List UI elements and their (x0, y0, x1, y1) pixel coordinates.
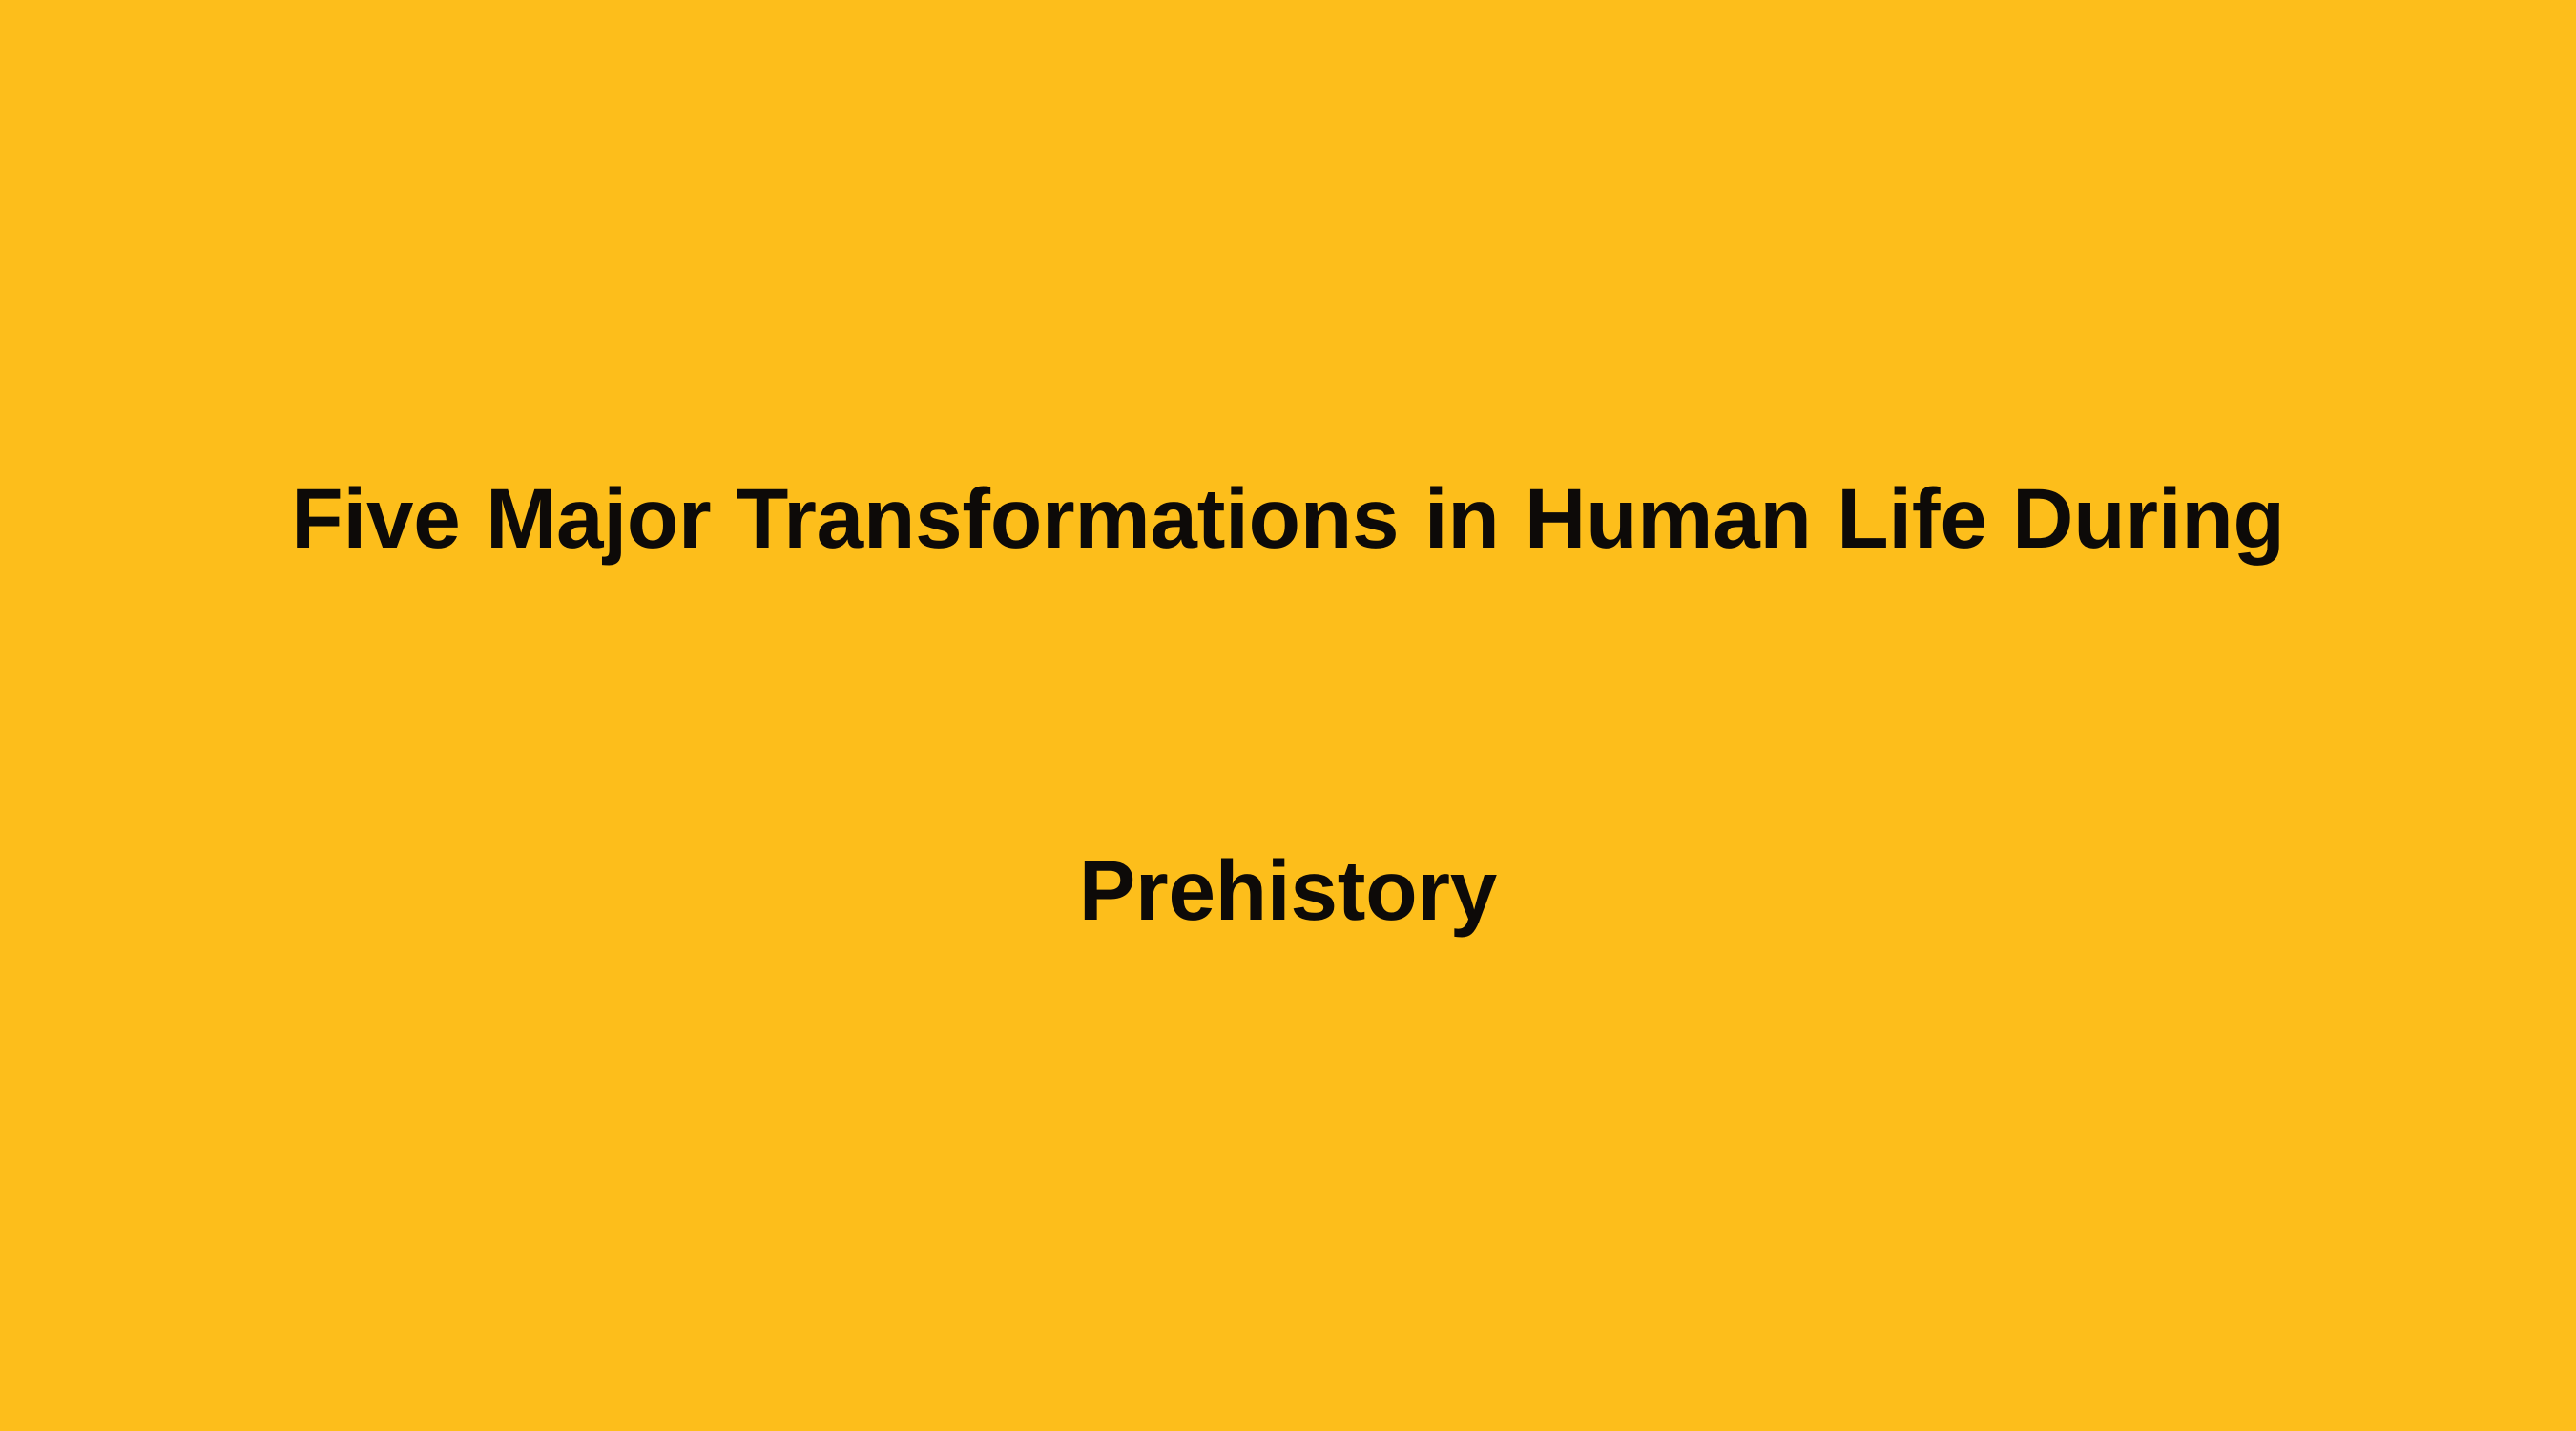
title-block: Five Major Transformations in Human Life… (162, 425, 2414, 984)
page-title-line-2: Prehistory (1079, 842, 1497, 938)
page-title: Five Major Transformations in Human Life… (162, 425, 2414, 984)
page-title-line-1: Five Major Transformations in Human Life… (291, 470, 2284, 566)
slide-canvas: Five Major Transformations in Human Life… (0, 0, 2576, 1431)
